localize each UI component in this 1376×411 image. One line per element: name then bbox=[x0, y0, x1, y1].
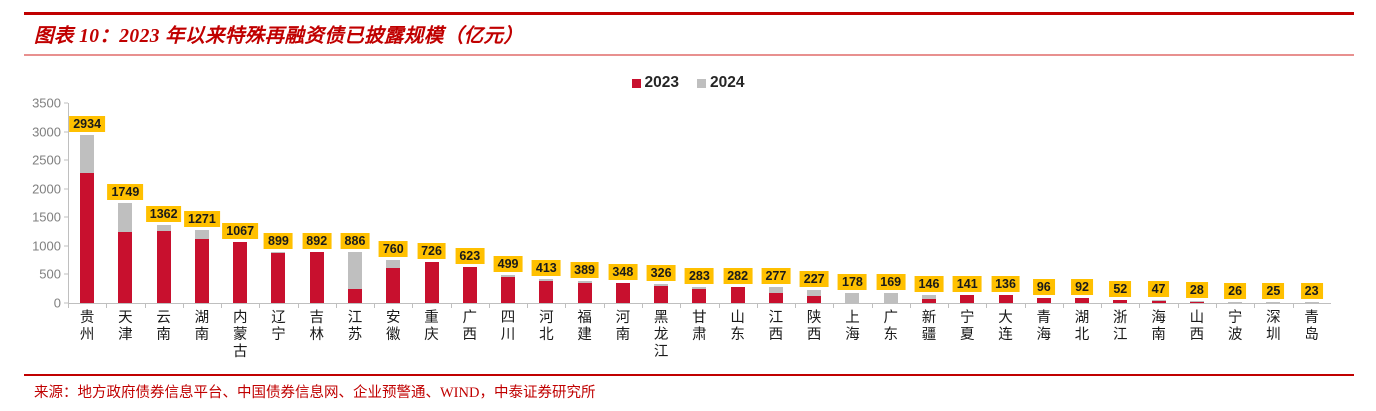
x-tick-label: 浙江 bbox=[1101, 310, 1139, 372]
data-label: 146 bbox=[915, 276, 944, 292]
x-tick-label-char: 云 bbox=[156, 310, 171, 327]
stacked-bar[interactable] bbox=[118, 203, 132, 303]
x-tick-mark bbox=[1178, 303, 1179, 308]
x-tick-label-char: 岛 bbox=[1304, 327, 1319, 344]
x-axis-line bbox=[68, 303, 1331, 304]
bar-segment-2023[interactable] bbox=[731, 287, 745, 303]
x-tick-label: 安徽 bbox=[374, 310, 412, 372]
bar-segment-2023[interactable] bbox=[999, 295, 1013, 303]
stacked-bar[interactable] bbox=[348, 252, 362, 303]
y-tick-label: 1500 bbox=[32, 210, 61, 225]
bar-segment-2023[interactable] bbox=[118, 232, 132, 303]
x-tick-label-char: 庆 bbox=[424, 327, 439, 344]
data-label: 23 bbox=[1301, 283, 1323, 299]
data-label: 25 bbox=[1262, 283, 1284, 299]
data-label: 1749 bbox=[107, 184, 143, 200]
data-label: 623 bbox=[455, 248, 484, 264]
x-tick-label-char: 西 bbox=[463, 327, 478, 344]
legend-swatch-2023 bbox=[632, 79, 641, 88]
bar-segment-2023[interactable] bbox=[1075, 298, 1089, 303]
x-tick-label-char: 青 bbox=[1304, 310, 1319, 327]
bar-column[interactable]: 282 bbox=[719, 103, 757, 303]
x-tick-mark bbox=[795, 303, 796, 308]
stacked-bar[interactable] bbox=[1037, 298, 1051, 303]
y-tick-label: 3000 bbox=[32, 124, 61, 139]
x-tick-label-char: 肃 bbox=[692, 327, 707, 344]
x-tick-mark bbox=[833, 303, 834, 308]
x-tick-label: 上海 bbox=[833, 310, 871, 372]
x-tick-label-char: 江 bbox=[769, 310, 784, 327]
bar-column[interactable]: 277 bbox=[757, 103, 795, 303]
bar-column[interactable]: 760 bbox=[374, 103, 412, 303]
x-tick-label-char: 湖 bbox=[1075, 310, 1090, 327]
data-label: 28 bbox=[1186, 282, 1208, 298]
bar-column[interactable]: 96 bbox=[1025, 103, 1063, 303]
stacked-bar[interactable] bbox=[195, 230, 209, 303]
x-tick-label-char: 西 bbox=[807, 327, 822, 344]
data-label: 326 bbox=[647, 265, 676, 281]
data-label: 892 bbox=[302, 233, 331, 249]
y-tick-label: 1000 bbox=[32, 238, 61, 253]
bar-segment-2023[interactable] bbox=[348, 289, 362, 303]
y-tick-label: 3500 bbox=[32, 96, 61, 111]
x-tick-label-char: 湖 bbox=[195, 310, 210, 327]
data-label: 389 bbox=[570, 262, 599, 278]
x-tick-label-char: 圳 bbox=[1266, 327, 1281, 344]
data-label: 227 bbox=[800, 271, 829, 287]
stacked-bar[interactable] bbox=[960, 295, 974, 303]
bar-segment-2023[interactable] bbox=[692, 289, 706, 303]
data-label: 283 bbox=[685, 268, 714, 284]
x-tick-mark bbox=[1139, 303, 1140, 308]
x-tick-label-char: 宁 bbox=[1228, 310, 1243, 327]
x-tick-mark bbox=[1293, 303, 1294, 308]
x-tick-label-char: 重 bbox=[424, 310, 439, 327]
x-tick-label-char: 川 bbox=[501, 327, 516, 344]
x-tick-label-char: 贵 bbox=[80, 310, 95, 327]
bar-segment-2023[interactable] bbox=[960, 295, 974, 303]
x-tick-label-char: 夏 bbox=[960, 327, 975, 344]
x-tick-mark bbox=[336, 303, 337, 308]
x-tick-label: 福建 bbox=[565, 310, 603, 372]
bar-segment-2023[interactable] bbox=[1152, 301, 1166, 303]
title-bottom-rule bbox=[24, 54, 1354, 56]
x-tick-label-char: 古 bbox=[233, 344, 248, 361]
x-tick-label: 天津 bbox=[106, 310, 144, 372]
x-tick-label: 江西 bbox=[757, 310, 795, 372]
bar-column[interactable]: 899 bbox=[259, 103, 297, 303]
bar-segment-2023[interactable] bbox=[501, 277, 515, 303]
bar-segment-2023[interactable] bbox=[616, 283, 630, 303]
x-tick-label-char: 大 bbox=[998, 310, 1013, 327]
stacked-bar[interactable] bbox=[1228, 302, 1242, 303]
bar-segment-2023[interactable] bbox=[578, 283, 592, 303]
bar-segment-2024[interactable] bbox=[1305, 302, 1319, 303]
x-tick-mark bbox=[298, 303, 299, 308]
stacked-bar[interactable] bbox=[539, 279, 553, 303]
chart-legend: 2023 2024 bbox=[0, 74, 1376, 92]
x-tick-label-char: 西 bbox=[1190, 327, 1205, 344]
x-tick-mark bbox=[910, 303, 911, 308]
x-tick-label-char: 北 bbox=[539, 327, 554, 344]
bar-segment-2024[interactable] bbox=[195, 230, 209, 239]
x-tick-label: 山东 bbox=[719, 310, 757, 372]
y-tick-label: 0 bbox=[54, 296, 61, 311]
bar-segment-2024[interactable] bbox=[386, 260, 400, 268]
x-tick-mark bbox=[604, 303, 605, 308]
x-tick-mark bbox=[412, 303, 413, 308]
bar-segment-2023[interactable] bbox=[807, 296, 821, 303]
x-tick-label-char: 南 bbox=[1151, 327, 1166, 344]
bar-segment-2023[interactable] bbox=[654, 286, 668, 303]
stacked-bar[interactable] bbox=[233, 242, 247, 303]
data-label: 1271 bbox=[184, 211, 220, 227]
x-tick-label: 陕西 bbox=[795, 310, 833, 372]
stacked-bar[interactable] bbox=[463, 267, 477, 303]
bar-column[interactable]: 1749 bbox=[106, 103, 144, 303]
bar-segment-2023[interactable] bbox=[539, 281, 553, 303]
bar-column[interactable]: 1271 bbox=[183, 103, 221, 303]
bar-segment-2023[interactable] bbox=[310, 252, 324, 303]
bar-segment-2024[interactable] bbox=[80, 135, 94, 173]
x-tick-label: 新疆 bbox=[910, 310, 948, 372]
x-tick-label-char: 广 bbox=[883, 310, 898, 327]
bar-segment-2024[interactable] bbox=[1228, 302, 1242, 303]
chart-title: 图表 10：2023 年以来特殊再融资债已披露规模（亿元） bbox=[34, 19, 523, 48]
bar-segment-2023[interactable] bbox=[233, 242, 247, 303]
x-tick-mark bbox=[986, 303, 987, 308]
x-tick-mark bbox=[1254, 303, 1255, 308]
y-tick-label: 2500 bbox=[32, 153, 61, 168]
stacked-bar[interactable] bbox=[1113, 300, 1127, 303]
data-label: 282 bbox=[723, 268, 752, 284]
bar-column[interactable]: 1067 bbox=[221, 103, 259, 303]
x-tick-label-char: 福 bbox=[577, 310, 592, 327]
x-axis-category-labels: 贵州天津云南湖南内蒙古辽宁吉林江苏安徽重庆广西四川河北福建河南黑龙江甘肃山东江西… bbox=[68, 310, 1331, 372]
x-tick-label-char: 辽 bbox=[271, 310, 286, 327]
x-tick-label-char: 上 bbox=[845, 310, 860, 327]
data-label: 899 bbox=[264, 233, 293, 249]
x-tick-label-char: 吉 bbox=[309, 310, 324, 327]
x-tick-label-char: 深 bbox=[1266, 310, 1281, 327]
data-label: 760 bbox=[379, 241, 408, 257]
bar-column[interactable]: 146 bbox=[910, 103, 948, 303]
bar-segment-2024[interactable] bbox=[348, 252, 362, 288]
bar-segment-2023[interactable] bbox=[386, 268, 400, 303]
x-tick-mark bbox=[489, 303, 490, 308]
data-label: 277 bbox=[761, 268, 790, 284]
bar-segment-2023[interactable] bbox=[1113, 300, 1127, 303]
stacked-bar[interactable] bbox=[999, 295, 1013, 303]
plot-area: 3500300025002000150010005000 29341749136… bbox=[68, 103, 1331, 303]
x-tick-label: 青海 bbox=[1025, 310, 1063, 372]
x-tick-label-char: 波 bbox=[1228, 327, 1243, 344]
x-tick-label: 江苏 bbox=[336, 310, 374, 372]
data-label: 47 bbox=[1148, 281, 1170, 297]
x-tick-label-char: 海 bbox=[1037, 327, 1052, 344]
footer-rule bbox=[24, 374, 1354, 376]
x-tick-label-char: 南 bbox=[616, 327, 631, 344]
bar-column[interactable]: 52 bbox=[1101, 103, 1139, 303]
bar-segment-2023[interactable] bbox=[425, 262, 439, 303]
x-tick-label-char: 宁 bbox=[960, 310, 975, 327]
x-tick-mark bbox=[1025, 303, 1026, 308]
x-tick-label-char: 津 bbox=[118, 327, 133, 344]
data-label: 26 bbox=[1224, 283, 1246, 299]
bar-column[interactable]: 227 bbox=[795, 103, 833, 303]
bar-segment-2023[interactable] bbox=[157, 231, 171, 303]
x-tick-label-char: 连 bbox=[998, 327, 1013, 344]
bar-column[interactable]: 169 bbox=[872, 103, 910, 303]
x-tick-label-char: 苏 bbox=[348, 327, 363, 344]
stacked-bar[interactable] bbox=[922, 295, 936, 303]
stacked-bar[interactable] bbox=[616, 283, 630, 303]
x-tick-mark bbox=[145, 303, 146, 308]
x-tick-label-char: 浙 bbox=[1113, 310, 1128, 327]
bar-column[interactable]: 892 bbox=[298, 103, 336, 303]
stacked-bar[interactable] bbox=[386, 260, 400, 303]
bar-column[interactable]: 886 bbox=[336, 103, 374, 303]
stacked-bar[interactable] bbox=[157, 225, 171, 303]
bar-column[interactable]: 178 bbox=[833, 103, 871, 303]
figure-container: 图表 10：2023 年以来特殊再融资债已披露规模（亿元） 2023 2024 … bbox=[0, 0, 1376, 411]
bar-column[interactable]: 136 bbox=[986, 103, 1024, 303]
x-tick-mark bbox=[68, 303, 69, 308]
x-tick-label: 辽宁 bbox=[259, 310, 297, 372]
x-tick-label: 甘肃 bbox=[680, 310, 718, 372]
x-tick-label: 大连 bbox=[986, 310, 1024, 372]
x-tick-label-char: 江 bbox=[348, 310, 363, 327]
bar-segment-2023[interactable] bbox=[769, 293, 783, 303]
x-tick-label: 深圳 bbox=[1254, 310, 1292, 372]
x-tick-label-char: 南 bbox=[156, 327, 171, 344]
x-tick-mark bbox=[757, 303, 758, 308]
x-tick-label: 海南 bbox=[1139, 310, 1177, 372]
data-label: 169 bbox=[876, 274, 905, 290]
x-tick-label: 云南 bbox=[145, 310, 183, 372]
bar-segment-2023[interactable] bbox=[271, 253, 285, 303]
source-note: 来源：地方政府债券信息平台、中国债券信息网、企业预警通、WIND，中泰证券研究所 bbox=[34, 381, 595, 402]
x-tick-label-char: 江 bbox=[1113, 327, 1128, 344]
bar-segment-2023[interactable] bbox=[1190, 302, 1204, 303]
x-tick-label-char: 东 bbox=[730, 327, 745, 344]
x-tick-label-char: 新 bbox=[922, 310, 937, 327]
x-tick-mark bbox=[374, 303, 375, 308]
x-tick-label-char: 建 bbox=[577, 327, 592, 344]
stacked-bar[interactable] bbox=[425, 262, 439, 303]
y-tick-label: 500 bbox=[39, 267, 61, 282]
legend-label-2024: 2024 bbox=[710, 74, 744, 92]
x-tick-label-char: 蒙 bbox=[233, 327, 248, 344]
x-tick-label-char: 山 bbox=[1190, 310, 1205, 327]
x-tick-label: 湖南 bbox=[183, 310, 221, 372]
legend-item-2023[interactable]: 2023 bbox=[632, 74, 679, 92]
bar-column[interactable]: 283 bbox=[680, 103, 718, 303]
stacked-bar[interactable] bbox=[578, 281, 592, 303]
x-tick-mark bbox=[565, 303, 566, 308]
x-tick-label-char: 甘 bbox=[692, 310, 707, 327]
stacked-bar[interactable] bbox=[731, 287, 745, 303]
x-tick-label: 四川 bbox=[489, 310, 527, 372]
bar-segment-2023[interactable] bbox=[1037, 298, 1051, 303]
x-tick-mark bbox=[183, 303, 184, 308]
bar-column[interactable]: 413 bbox=[527, 103, 565, 303]
x-tick-label-char: 徽 bbox=[386, 327, 401, 344]
x-tick-mark bbox=[948, 303, 949, 308]
x-tick-mark bbox=[1216, 303, 1217, 308]
data-label: 1067 bbox=[222, 223, 258, 239]
data-label: 886 bbox=[341, 233, 370, 249]
x-tick-label: 黑龙江 bbox=[642, 310, 680, 372]
x-tick-label: 吉林 bbox=[298, 310, 336, 372]
bar-column[interactable]: 389 bbox=[565, 103, 603, 303]
bar-column[interactable]: 2934 bbox=[68, 103, 106, 303]
x-tick-label-char: 海 bbox=[845, 327, 860, 344]
bar-segment-2023[interactable] bbox=[463, 267, 477, 303]
data-label: 96 bbox=[1033, 279, 1055, 295]
x-tick-label: 宁波 bbox=[1216, 310, 1254, 372]
stacked-bar[interactable] bbox=[1266, 302, 1280, 303]
bar-column[interactable]: 348 bbox=[604, 103, 642, 303]
stacked-bar[interactable] bbox=[654, 284, 668, 303]
x-tick-label-char: 疆 bbox=[922, 327, 937, 344]
stacked-bar[interactable] bbox=[807, 290, 821, 303]
data-label: 52 bbox=[1109, 281, 1131, 297]
x-tick-label-char: 内 bbox=[233, 310, 248, 327]
x-tick-label: 重庆 bbox=[412, 310, 450, 372]
stacked-bar[interactable] bbox=[271, 252, 285, 303]
x-tick-label-char: 河 bbox=[539, 310, 554, 327]
stacked-bar[interactable] bbox=[1190, 301, 1204, 303]
bar-segment-2023[interactable] bbox=[195, 239, 209, 303]
bar-column[interactable]: 92 bbox=[1063, 103, 1101, 303]
data-label: 499 bbox=[494, 256, 523, 272]
x-tick-mark bbox=[1063, 303, 1064, 308]
x-tick-label: 贵州 bbox=[68, 310, 106, 372]
x-tick-label-char: 林 bbox=[309, 327, 324, 344]
legend-label-2023: 2023 bbox=[645, 74, 679, 92]
data-label: 2934 bbox=[69, 116, 105, 132]
data-label: 348 bbox=[608, 264, 637, 280]
x-tick-mark bbox=[1101, 303, 1102, 308]
bar-column[interactable]: 28 bbox=[1178, 103, 1216, 303]
title-top-rule bbox=[24, 12, 1354, 15]
stacked-bar[interactable] bbox=[310, 252, 324, 303]
x-tick-mark bbox=[451, 303, 452, 308]
x-tick-label-char: 州 bbox=[80, 327, 95, 344]
x-tick-label-char: 四 bbox=[501, 310, 516, 327]
x-tick-mark bbox=[106, 303, 107, 308]
x-tick-label: 河北 bbox=[527, 310, 565, 372]
data-label: 141 bbox=[953, 276, 982, 292]
bar-segment-2024[interactable] bbox=[1266, 302, 1280, 303]
bar-column[interactable]: 141 bbox=[948, 103, 986, 303]
x-tick-label: 内蒙古 bbox=[221, 310, 259, 372]
x-tick-label-char: 天 bbox=[118, 310, 133, 327]
x-tick-mark bbox=[221, 303, 222, 308]
data-label: 1362 bbox=[146, 206, 182, 222]
x-tick-mark bbox=[527, 303, 528, 308]
bar-segment-2024[interactable] bbox=[845, 293, 859, 303]
stacked-bar[interactable] bbox=[769, 287, 783, 303]
x-tick-label: 湖北 bbox=[1063, 310, 1101, 372]
x-tick-label-char: 江 bbox=[654, 344, 669, 361]
x-tick-label-char: 龙 bbox=[654, 327, 669, 344]
data-label: 726 bbox=[417, 243, 446, 259]
legend-item-2024[interactable]: 2024 bbox=[697, 74, 744, 92]
x-tick-label-char: 黑 bbox=[654, 310, 669, 327]
bar-segment-2024[interactable] bbox=[884, 293, 898, 303]
x-tick-label-char: 南 bbox=[195, 327, 210, 344]
x-tick-label-char: 宁 bbox=[271, 327, 286, 344]
x-tick-label-char: 安 bbox=[386, 310, 401, 327]
bar-segment-2024[interactable] bbox=[118, 203, 132, 232]
stacked-bar[interactable] bbox=[80, 135, 94, 303]
x-tick-mark bbox=[872, 303, 873, 308]
y-tick-label: 2000 bbox=[32, 181, 61, 196]
stacked-bar[interactable] bbox=[501, 275, 515, 304]
x-tick-label-char: 东 bbox=[883, 327, 898, 344]
stacked-bar[interactable] bbox=[1305, 302, 1319, 303]
bar-column[interactable]: 26 bbox=[1216, 103, 1254, 303]
x-tick-label: 宁夏 bbox=[948, 310, 986, 372]
bar-column[interactable]: 499 bbox=[489, 103, 527, 303]
x-tick-label-char: 广 bbox=[463, 310, 478, 327]
bar-series-group: 2934174913621271106789989288676072662349… bbox=[68, 103, 1331, 303]
bar-segment-2023[interactable] bbox=[80, 173, 94, 303]
bar-column[interactable]: 1362 bbox=[145, 103, 183, 303]
stacked-bar[interactable] bbox=[845, 293, 859, 303]
bar-column[interactable]: 23 bbox=[1293, 103, 1331, 303]
data-label: 178 bbox=[838, 274, 867, 290]
x-tick-label: 广东 bbox=[872, 310, 910, 372]
x-tick-label-char: 河 bbox=[616, 310, 631, 327]
bar-segment-2023[interactable] bbox=[922, 299, 936, 303]
x-tick-mark bbox=[259, 303, 260, 308]
x-tick-label-char: 北 bbox=[1075, 327, 1090, 344]
data-label: 136 bbox=[991, 276, 1020, 292]
stacked-bar[interactable] bbox=[884, 293, 898, 303]
stacked-bar[interactable] bbox=[1075, 298, 1089, 303]
bar-column[interactable]: 726 bbox=[412, 103, 450, 303]
x-tick-mark bbox=[680, 303, 681, 308]
x-tick-label: 青岛 bbox=[1293, 310, 1331, 372]
legend-swatch-2024 bbox=[697, 79, 706, 88]
x-tick-label: 河南 bbox=[604, 310, 642, 372]
bar-column[interactable]: 326 bbox=[642, 103, 680, 303]
bar-column[interactable]: 623 bbox=[451, 103, 489, 303]
stacked-bar[interactable] bbox=[1152, 300, 1166, 303]
x-tick-mark bbox=[642, 303, 643, 308]
data-label: 413 bbox=[532, 260, 561, 276]
x-tick-label-char: 山 bbox=[730, 310, 745, 327]
x-tick-mark bbox=[719, 303, 720, 308]
bar-column[interactable]: 25 bbox=[1254, 103, 1292, 303]
x-tick-label-char: 西 bbox=[769, 327, 784, 344]
stacked-bar[interactable] bbox=[692, 287, 706, 303]
x-tick-label: 山西 bbox=[1178, 310, 1216, 372]
x-tick-label-char: 海 bbox=[1151, 310, 1166, 327]
x-tick-label: 广西 bbox=[451, 310, 489, 372]
x-tick-label-char: 青 bbox=[1037, 310, 1052, 327]
x-tick-label-char: 陕 bbox=[807, 310, 822, 327]
bar-column[interactable]: 47 bbox=[1139, 103, 1177, 303]
data-label: 92 bbox=[1071, 279, 1093, 295]
